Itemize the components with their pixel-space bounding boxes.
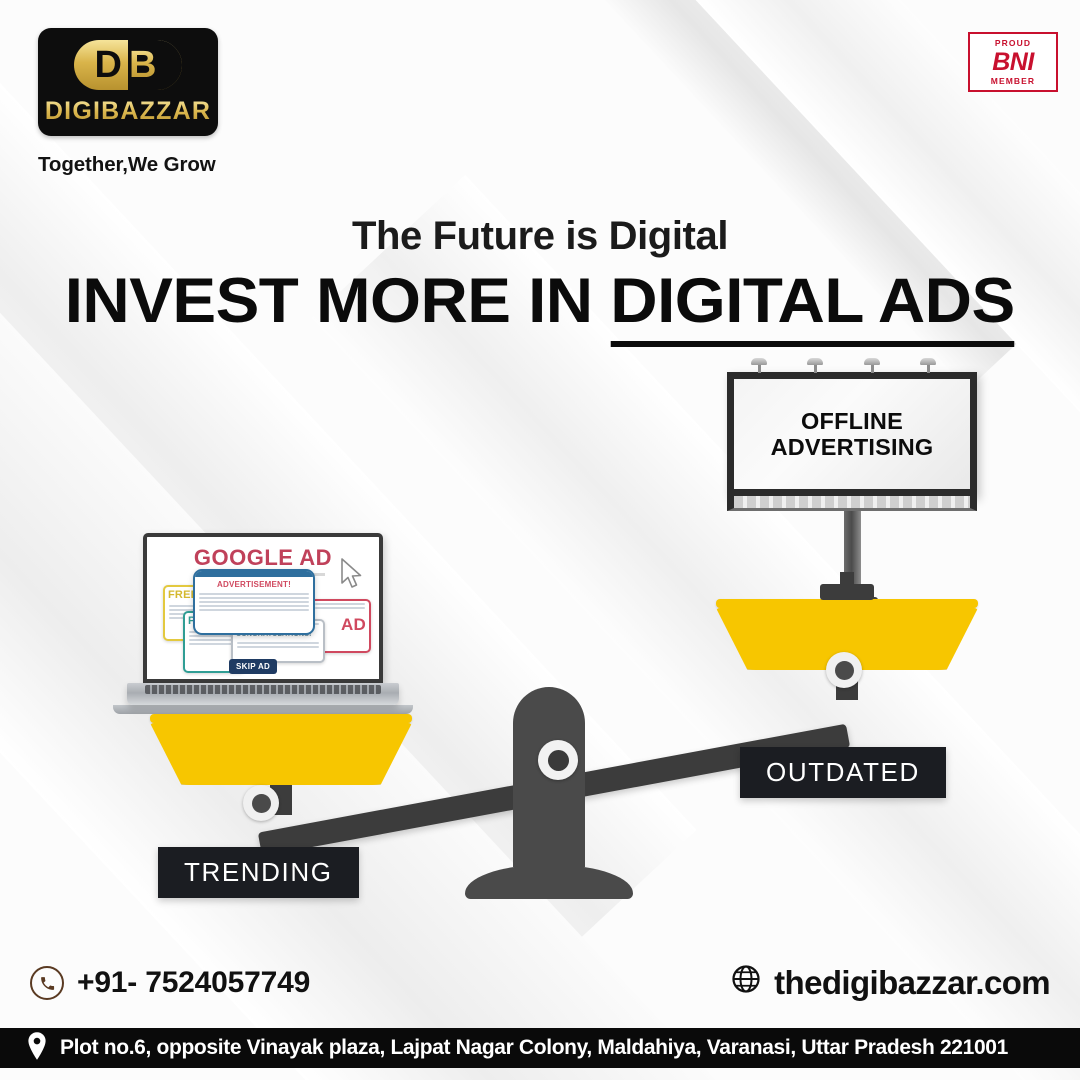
mouse-pointer-icon: [339, 557, 365, 591]
ad-card-lines: [311, 601, 369, 613]
website-url: thedigibazzar.com: [774, 964, 1050, 1002]
ad-card-label: ADVERTISEMENT!: [195, 577, 313, 591]
laptop-screen-content: GOOGLE AD FREE! AD POP UP! CONGRATULATIO: [147, 537, 379, 679]
bni-top-label: PROUD: [995, 39, 1031, 48]
address-text: Plot no.6, opposite Vinayak plaza, Lajpa…: [60, 1036, 1008, 1060]
billboard-lamp-icon: [920, 358, 936, 372]
phone-icon: [30, 966, 64, 1000]
footer-address-bar: Plot no.6, opposite Vinayak plaza, Lajpa…: [0, 1028, 1080, 1068]
scale-fulcrum: [505, 687, 593, 899]
billboard-lamp-icon: [864, 358, 880, 372]
ad-card-lines: [233, 640, 323, 652]
logo-monogram: D B: [74, 40, 182, 90]
footer-contact-bar: +91- 7524057749 thedigibazzar.com: [0, 952, 1080, 1014]
billboard-lamps: [727, 358, 977, 372]
billboard-lamp-icon: [751, 358, 767, 372]
brand-logo[interactable]: D B DIGIBAZZAR Together,We Grow: [38, 28, 253, 177]
laptop-base: [127, 683, 399, 705]
contact-website[interactable]: thedigibazzar.com: [731, 964, 1050, 1002]
scale-hinge-left: [243, 785, 279, 821]
logo-letter-b: B: [126, 46, 161, 84]
billboard-line-2: ADVERTISING: [771, 434, 934, 460]
headline-block: The Future is Digital INVEST MORE IN DIG…: [0, 214, 1080, 337]
logo-monogram-letters: D B: [74, 40, 182, 90]
headline-title: INVEST MORE IN DIGITAL ADS: [65, 265, 1015, 337]
scale-pan-rim: [150, 714, 412, 723]
contact-phone[interactable]: +91- 7524057749: [30, 966, 310, 1000]
skip-ad-button[interactable]: SKIP AD: [229, 659, 277, 674]
brand-tagline: Together,We Grow: [38, 153, 253, 177]
logo-wordmark: DIGIBAZZAR: [45, 97, 211, 126]
bni-bottom-label: MEMBER: [991, 77, 1035, 86]
logo-badge: D B DIGIBAZZAR: [38, 28, 218, 136]
billboard-lamp-icon: [807, 358, 823, 372]
bni-wordmark: BNI: [992, 50, 1034, 75]
headline-title-plain: INVEST MORE IN: [65, 266, 611, 336]
billboard-panel: OFFLINE ADVERTISING: [727, 372, 977, 496]
globe-icon: [731, 964, 761, 1002]
billboard-line-1: OFFLINE: [771, 408, 934, 434]
tag-outdated: OUTDATED: [740, 747, 946, 798]
billboard-catwalk: [727, 496, 977, 511]
billboard-text: OFFLINE ADVERTISING: [771, 408, 934, 461]
phone-number: +91- 7524057749: [77, 966, 310, 1000]
scale-pan-clip: [820, 584, 874, 600]
headline-subtitle: The Future is Digital: [0, 214, 1080, 259]
poster-canvas: D B DIGIBAZZAR Together,We Grow PROUD BN…: [0, 0, 1080, 1080]
ad-card-advertisement: ADVERTISEMENT!: [193, 569, 315, 635]
laptop-keyboard: [145, 685, 381, 694]
scale-pan-rim: [716, 599, 978, 608]
laptop-screen: GOOGLE AD FREE! AD POP UP! CONGRATULATIO: [143, 533, 383, 683]
scale-pan-left: [150, 714, 412, 815]
ad-card-lines: [195, 591, 313, 615]
tag-trending: TRENDING: [158, 847, 359, 898]
headline-title-underlined: DIGITAL ADS: [611, 266, 1015, 347]
logo-letter-d: D: [95, 46, 123, 84]
scale-hinge-right: [826, 652, 862, 688]
fulcrum-pivot: [538, 740, 578, 780]
scale-pan-dish: [150, 723, 412, 785]
laptop-graphic: GOOGLE AD FREE! AD POP UP! CONGRATULATIO: [143, 533, 383, 714]
laptop-foot: [113, 705, 413, 714]
bni-member-badge: PROUD BNI MEMBER: [968, 32, 1058, 92]
location-pin-icon: [26, 1032, 48, 1065]
